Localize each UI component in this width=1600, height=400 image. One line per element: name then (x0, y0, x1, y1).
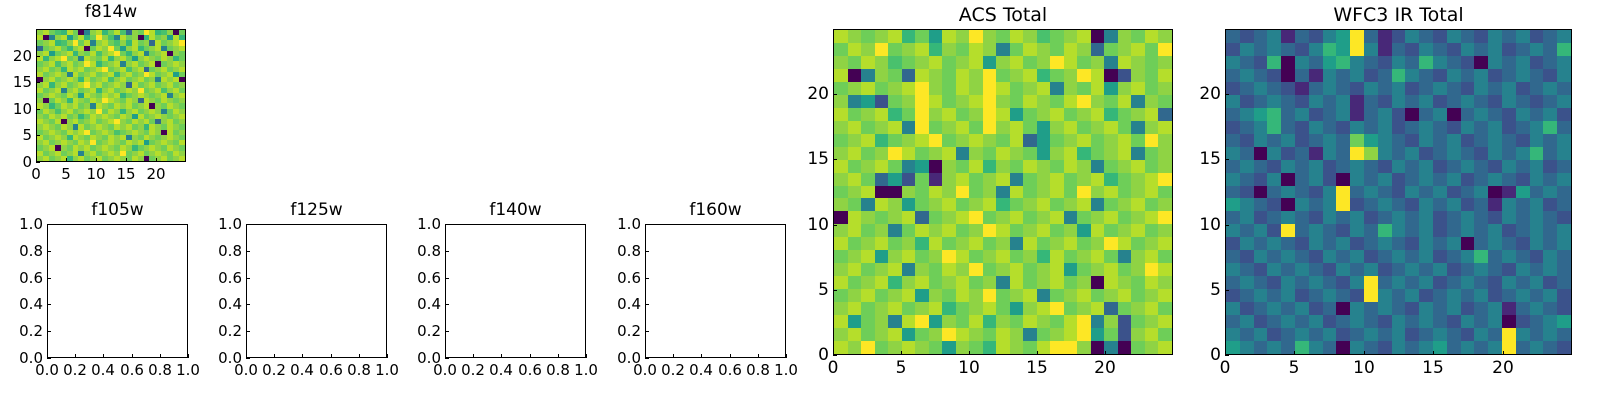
heatmap-cell (888, 198, 902, 211)
heatmap-cell (1488, 289, 1502, 302)
heatmap-cell (1419, 276, 1433, 289)
heatmap-cell (1447, 263, 1461, 276)
heatmap-cell (1516, 121, 1530, 134)
heatmap-cell (1502, 224, 1516, 237)
heatmap-cell (1447, 82, 1461, 95)
heatmap-cell (1145, 173, 1159, 186)
heatmap-cell (1050, 302, 1064, 315)
heatmap-cell (956, 30, 970, 43)
heatmap-cell (861, 341, 875, 354)
heatmap-cell (956, 315, 970, 328)
heatmap-cell (1323, 315, 1337, 328)
heatmap-cell (861, 198, 875, 211)
heatmap-cell (1433, 289, 1447, 302)
heatmap-cell (1240, 173, 1254, 186)
heatmap-cell (1474, 186, 1488, 199)
y-tick-label: 5 (1179, 280, 1221, 300)
x-tick-label: 10 (958, 358, 980, 378)
heatmap-f814w (37, 30, 185, 161)
heatmap-cell (875, 198, 889, 211)
heatmap-cell (1145, 302, 1159, 315)
heatmap-cell (1474, 224, 1488, 237)
heatmap-cell (1010, 173, 1024, 186)
heatmap-cell (1118, 121, 1132, 134)
heatmap-cell (1091, 160, 1105, 173)
y-tick-label: 0 (787, 345, 829, 365)
heatmap-cell (875, 43, 889, 56)
heatmap-cell (1447, 198, 1461, 211)
heatmap-cell (929, 160, 943, 173)
heatmap-cell (1240, 250, 1254, 263)
heatmap-cell (1488, 108, 1502, 121)
heatmap-cell (888, 224, 902, 237)
y-tick-mark (1225, 225, 1229, 226)
heatmap-cell (1461, 82, 1475, 95)
heatmap-cell (1405, 173, 1419, 186)
heatmap-cell (1145, 95, 1159, 108)
heatmap-cell (1516, 186, 1530, 199)
heatmap-cell (1336, 250, 1350, 263)
heatmap-cell (875, 276, 889, 289)
x-tick-label: 10 (86, 165, 105, 183)
heatmap-cell (1309, 289, 1323, 302)
heatmap-cell (1336, 134, 1350, 147)
heatmap-cell (1309, 263, 1323, 276)
heatmap-cell (969, 237, 983, 250)
heatmap-cell (956, 82, 970, 95)
heatmap-cell (1516, 134, 1530, 147)
heatmap-cell (1240, 121, 1254, 134)
heatmap-cell (1502, 43, 1516, 56)
heatmap-cell (1433, 95, 1447, 108)
heatmap-cell (1158, 186, 1172, 199)
heatmap-cell (1530, 43, 1544, 56)
heatmap-cell (915, 56, 929, 69)
x-tick-label: 0.6 (319, 361, 343, 379)
axes-f814w[interactable] (36, 29, 186, 162)
x-tick-mark (103, 354, 104, 358)
heatmap-cell (834, 121, 848, 134)
heatmap-cell (929, 43, 943, 56)
axes-f105w[interactable] (47, 224, 188, 358)
heatmap-cell (1145, 276, 1159, 289)
heatmap-cell (1267, 186, 1281, 199)
heatmap-cell (1433, 69, 1447, 82)
axes-wfc3-ir-total[interactable] (1225, 29, 1572, 355)
heatmap-cell (861, 82, 875, 95)
heatmap-cell (1281, 121, 1295, 134)
x-tick-mark (673, 354, 674, 358)
heatmap-cell (1543, 147, 1557, 160)
heatmap-cell (983, 302, 997, 315)
heatmap-cell (1131, 134, 1145, 147)
heatmap-cell (1405, 186, 1419, 199)
y-tick-mark (645, 331, 649, 332)
heatmap-cell (888, 328, 902, 341)
heatmap-cell (1226, 302, 1240, 315)
heatmap-cell (956, 341, 970, 354)
x-tick-mark (126, 158, 127, 162)
heatmap-cell (1281, 56, 1295, 69)
heatmap-cell (861, 250, 875, 263)
heatmap-cell (1350, 121, 1364, 134)
heatmap-cell (1323, 82, 1337, 95)
heatmap-cell (1392, 276, 1406, 289)
heatmap-cell (1364, 186, 1378, 199)
heatmap-cell (834, 198, 848, 211)
heatmap-cell (1419, 56, 1433, 69)
y-tick-label: 0.2 (599, 322, 641, 340)
axes-acs-total[interactable] (833, 29, 1173, 355)
heatmap-cell (1077, 121, 1091, 134)
heatmap-cell (1447, 43, 1461, 56)
heatmap-cell (1158, 134, 1172, 147)
heatmap-cell (969, 276, 983, 289)
heatmap-cell (1474, 30, 1488, 43)
heatmap-cell (1392, 186, 1406, 199)
heatmap-cell (956, 160, 970, 173)
heatmap-cell (1091, 302, 1105, 315)
heatmap-cell (861, 43, 875, 56)
heatmap-cell (1158, 250, 1172, 263)
heatmap-cell (875, 95, 889, 108)
heatmap-cell (1010, 198, 1024, 211)
heatmap-cell (1050, 82, 1064, 95)
heatmap-cell (1364, 56, 1378, 69)
heatmap-cell (915, 147, 929, 160)
heatmap-cell (996, 302, 1010, 315)
heatmap-cell (1447, 160, 1461, 173)
heatmap-cell (1050, 173, 1064, 186)
heatmap-cell (1323, 237, 1337, 250)
heatmap-cell (1254, 173, 1268, 186)
heatmap-cell (834, 95, 848, 108)
heatmap-cell (1419, 237, 1433, 250)
heatmap-cell (1267, 160, 1281, 173)
heatmap-cell (1050, 134, 1064, 147)
heatmap-cell (1447, 95, 1461, 108)
heatmap-cell (1336, 82, 1350, 95)
heatmap-cell (1091, 250, 1105, 263)
x-tick-label: 15 (1422, 358, 1444, 378)
heatmap-cell (1364, 30, 1378, 43)
heatmap-cell (1037, 56, 1051, 69)
panel-title-acs-total: ACS Total (833, 4, 1173, 26)
heatmap-cell (1104, 237, 1118, 250)
heatmap-cell (1323, 95, 1337, 108)
heatmap-cell (1405, 160, 1419, 173)
heatmap-cell (1091, 289, 1105, 302)
heatmap-cell (1281, 173, 1295, 186)
heatmap-cell (848, 302, 862, 315)
heatmap-cell (834, 82, 848, 95)
y-tick-label: 20 (0, 47, 32, 65)
heatmap-cell (1091, 341, 1105, 354)
heatmap-cell (1530, 186, 1544, 199)
heatmap-cell (956, 250, 970, 263)
heatmap-cell (1461, 276, 1475, 289)
heatmap-cell (1037, 43, 1051, 56)
heatmap-cell (1557, 198, 1571, 211)
heatmap-cell (875, 237, 889, 250)
heatmap-cell (1050, 95, 1064, 108)
heatmap-cell (1037, 263, 1051, 276)
heatmap-cell (875, 30, 889, 43)
heatmap-cell (902, 198, 916, 211)
heatmap-cell (1350, 315, 1364, 328)
heatmap-cell (929, 186, 943, 199)
x-tick-label: 1.0 (574, 361, 598, 379)
heatmap-cell (1516, 341, 1530, 354)
heatmap-cell (1488, 43, 1502, 56)
heatmap-cell (179, 156, 185, 161)
heatmap-cell (1543, 43, 1557, 56)
heatmap-cell (942, 30, 956, 43)
heatmap-cell (1131, 147, 1145, 160)
heatmap-cell (1010, 224, 1024, 237)
heatmap-cell (996, 289, 1010, 302)
heatmap-cell (875, 341, 889, 354)
axes-f125w[interactable] (246, 224, 387, 358)
heatmap-cell (1350, 160, 1364, 173)
axes-f140w[interactable] (445, 224, 586, 358)
heatmap-cell (1474, 263, 1488, 276)
heatmap-cell (969, 173, 983, 186)
heatmap-cell (1309, 160, 1323, 173)
heatmap-cell (996, 198, 1010, 211)
heatmap-cell (1037, 198, 1051, 211)
heatmap-cell (1158, 289, 1172, 302)
heatmap-cell (1158, 276, 1172, 289)
heatmap-cell (1516, 198, 1530, 211)
heatmap-cell (956, 147, 970, 160)
heatmap-cell (1064, 56, 1078, 69)
heatmap-cell (1323, 69, 1337, 82)
heatmap-cell (1295, 134, 1309, 147)
heatmap-cell (1064, 198, 1078, 211)
heatmap-cell (1145, 134, 1159, 147)
heatmap-cell (848, 341, 862, 354)
heatmap-cell (1023, 121, 1037, 134)
heatmap-cell (1023, 315, 1037, 328)
heatmap-cell (861, 211, 875, 224)
heatmap-cell (1433, 276, 1447, 289)
heatmap-cell (1158, 263, 1172, 276)
heatmap-cell (1064, 276, 1078, 289)
y-tick-label: 0.4 (200, 295, 242, 313)
heatmap-cell (1516, 147, 1530, 160)
y-tick-mark (36, 82, 40, 83)
heatmap-cell (1050, 250, 1064, 263)
heatmap-cell (1267, 95, 1281, 108)
heatmap-cell (1010, 186, 1024, 199)
heatmap-cell (969, 43, 983, 56)
heatmap-cell (1104, 328, 1118, 341)
heatmap-cell (1267, 30, 1281, 43)
heatmap-cell (969, 56, 983, 69)
axes-f160w[interactable] (645, 224, 786, 358)
heatmap-cell (1267, 341, 1281, 354)
heatmap-cell (1419, 263, 1433, 276)
heatmap-cell (1309, 211, 1323, 224)
heatmap-cell (861, 121, 875, 134)
heatmap-cell (1378, 56, 1392, 69)
heatmap-cell (956, 237, 970, 250)
heatmap-cell (1309, 173, 1323, 186)
heatmap-cell (1405, 289, 1419, 302)
heatmap-cell (956, 69, 970, 82)
y-tick-mark (246, 224, 250, 225)
heatmap-cell (996, 108, 1010, 121)
heatmap-cell (1543, 224, 1557, 237)
heatmap-cell (1131, 30, 1145, 43)
heatmap-cell (888, 43, 902, 56)
x-tick-mark (156, 158, 157, 162)
heatmap-cell (902, 69, 916, 82)
heatmap-cell (1364, 276, 1378, 289)
heatmap-cell (1378, 315, 1392, 328)
heatmap-cell (1064, 263, 1078, 276)
heatmap-cell (942, 56, 956, 69)
x-tick-label: 20 (1094, 358, 1116, 378)
heatmap-cell (1309, 82, 1323, 95)
heatmap-cell (848, 82, 862, 95)
heatmap-cell (1543, 95, 1557, 108)
y-tick-mark (36, 56, 40, 57)
y-tick-label: 0.8 (200, 242, 242, 260)
heatmap-cell (929, 147, 943, 160)
heatmap-cell (1267, 211, 1281, 224)
heatmap-cell (1419, 160, 1433, 173)
heatmap-cell (983, 186, 997, 199)
heatmap-cell (1474, 108, 1488, 121)
y-tick-label: 5 (787, 280, 829, 300)
heatmap-cell (1226, 147, 1240, 160)
heatmap-cell (1378, 30, 1392, 43)
heatmap-cell (1281, 211, 1295, 224)
x-tick-label: 5 (61, 165, 71, 183)
heatmap-cell (1010, 82, 1024, 95)
heatmap-cell (1543, 121, 1557, 134)
heatmap-cell (929, 108, 943, 121)
heatmap-cell (1364, 302, 1378, 315)
heatmap-cell (1378, 198, 1392, 211)
heatmap-cell (996, 121, 1010, 134)
heatmap-cell (888, 341, 902, 354)
heatmap-cell (1309, 315, 1323, 328)
heatmap-cell (875, 211, 889, 224)
heatmap-cell (1010, 95, 1024, 108)
heatmap-cell (1267, 121, 1281, 134)
heatmap-cell (1530, 237, 1544, 250)
heatmap-cell (1502, 30, 1516, 43)
heatmap-cell (1010, 134, 1024, 147)
heatmap-cell (1419, 211, 1433, 224)
heatmap-cell (1447, 121, 1461, 134)
heatmap-cell (1240, 302, 1254, 315)
heatmap-cell (1433, 315, 1447, 328)
heatmap-cell (1309, 108, 1323, 121)
heatmap-cell (1488, 237, 1502, 250)
heatmap-cell (1350, 328, 1364, 341)
heatmap-cell (1240, 186, 1254, 199)
heatmap-cell (915, 82, 929, 95)
heatmap-cell (1240, 276, 1254, 289)
heatmap-cell (1392, 173, 1406, 186)
heatmap-cell (1240, 341, 1254, 354)
heatmap-cell (1557, 315, 1571, 328)
heatmap-cell (1145, 198, 1159, 211)
y-tick-mark (833, 159, 837, 160)
heatmap-cell (1350, 237, 1364, 250)
heatmap-cell (1145, 211, 1159, 224)
y-tick-label: 15 (0, 73, 32, 91)
heatmap-cell (1226, 276, 1240, 289)
heatmap-cell (1240, 328, 1254, 341)
heatmap-cell (875, 250, 889, 263)
heatmap-cell (834, 211, 848, 224)
heatmap-cell (1064, 69, 1078, 82)
heatmap-cell (1364, 147, 1378, 160)
heatmap-cell (1145, 341, 1159, 354)
heatmap-cell (902, 173, 916, 186)
heatmap-cell (1405, 250, 1419, 263)
heatmap-cell (1010, 108, 1024, 121)
heatmap-cell (1037, 250, 1051, 263)
heatmap-cell (1378, 250, 1392, 263)
y-tick-label: 0.0 (200, 349, 242, 367)
heatmap-cell (1488, 82, 1502, 95)
heatmap-cell (1474, 121, 1488, 134)
heatmap-cell (1295, 147, 1309, 160)
heatmap-cell (1158, 315, 1172, 328)
heatmap-cell (1557, 289, 1571, 302)
y-tick-mark (445, 358, 449, 359)
heatmap-cell (969, 250, 983, 263)
heatmap-cell (1295, 341, 1309, 354)
heatmap-cell (1433, 250, 1447, 263)
x-tick-label: 0 (31, 165, 41, 183)
heatmap-cell (1023, 250, 1037, 263)
heatmap-cell (983, 30, 997, 43)
heatmap-cell (875, 82, 889, 95)
heatmap-cell (1488, 263, 1502, 276)
x-tick-mark (473, 354, 474, 358)
heatmap-cell (942, 315, 956, 328)
heatmap-cell (983, 250, 997, 263)
heatmap-cell (834, 341, 848, 354)
heatmap-cell (1267, 315, 1281, 328)
heatmap-cell (1364, 108, 1378, 121)
y-tick-mark (36, 162, 40, 163)
heatmap-cell (1240, 82, 1254, 95)
heatmap-cell (1077, 211, 1091, 224)
heatmap-cell (902, 147, 916, 160)
heatmap-cell (1461, 69, 1475, 82)
heatmap-cell (834, 134, 848, 147)
heatmap-cell (1091, 43, 1105, 56)
heatmap-cell (1530, 108, 1544, 121)
y-tick-mark (645, 251, 649, 252)
heatmap-cell (1037, 121, 1051, 134)
heatmap-cell (1240, 30, 1254, 43)
heatmap-cell (861, 263, 875, 276)
heatmap-cell (915, 160, 929, 173)
heatmap-cell (1474, 173, 1488, 186)
heatmap-cell (1267, 147, 1281, 160)
heatmap-cell (942, 160, 956, 173)
heatmap-cell (1254, 147, 1268, 160)
